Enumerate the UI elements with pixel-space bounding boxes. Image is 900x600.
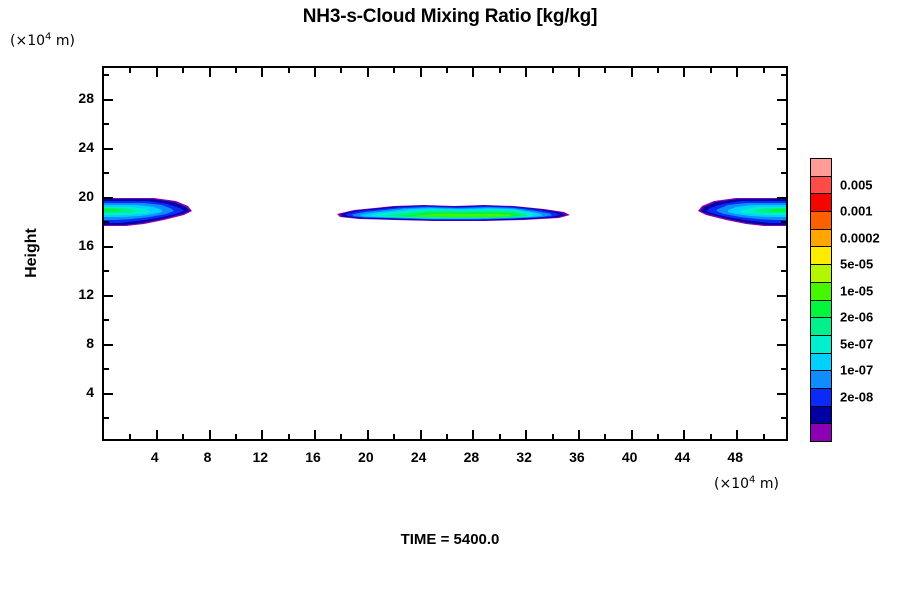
xaxis-tick — [393, 434, 395, 439]
xaxis-tick — [129, 68, 131, 73]
yaxis-tick — [777, 393, 786, 395]
colorbar-band — [810, 176, 832, 195]
yaxis-title: Height — [23, 228, 41, 278]
xaxis-tick — [683, 68, 685, 77]
xaxis-tick-label: 24 — [411, 449, 427, 465]
xaxis-tick — [499, 434, 501, 439]
colorbar-band — [810, 388, 832, 407]
xaxis-tick — [631, 430, 633, 439]
xaxis-tick — [288, 68, 290, 73]
xaxis-tick — [156, 430, 158, 439]
xaxis-tick — [367, 68, 369, 77]
yaxis-tick — [781, 172, 786, 174]
xaxis-tick — [288, 434, 290, 439]
yaxis-tick — [781, 123, 786, 125]
xaxis-tick — [578, 68, 580, 77]
colorbar-band — [810, 211, 832, 230]
colorbar-label: 5e-05 — [840, 257, 873, 272]
yaxis-tick — [104, 417, 109, 419]
xaxis-tick — [235, 68, 237, 73]
xaxis-tick — [182, 68, 184, 73]
colorbar — [810, 158, 832, 441]
colorbar-band — [810, 423, 832, 442]
xaxis-tick — [420, 430, 422, 439]
yaxis-tick — [104, 172, 109, 174]
yaxis-tick — [104, 74, 109, 76]
yaxis-tick — [104, 319, 109, 321]
xaxis-tick — [235, 434, 237, 439]
yaxis-units-label: (×104 m) — [10, 33, 75, 49]
xaxis-tick — [552, 434, 554, 439]
colorbar-band — [810, 370, 832, 389]
xaxis-tick-label: 8 — [204, 449, 212, 465]
colorbar-band — [810, 353, 832, 372]
yaxis-tick-label: 20 — [78, 188, 94, 204]
xaxis-tick — [367, 430, 369, 439]
yaxis-tick — [777, 246, 786, 248]
right-cloud-plume — [698, 198, 786, 226]
yaxis-tick — [777, 99, 786, 101]
colorbar-band — [810, 300, 832, 319]
yaxis-tick — [777, 344, 786, 346]
xaxis-tick — [604, 68, 606, 73]
xaxis-tick — [209, 430, 211, 439]
colorbar-band — [810, 246, 832, 265]
colorbar-band — [810, 317, 832, 336]
yaxis-tick — [777, 295, 786, 297]
colorbar-label: 0.005 — [840, 177, 873, 192]
yaxis-tick — [777, 148, 786, 150]
xaxis-tick — [578, 430, 580, 439]
yaxis-tick-label: 24 — [78, 139, 94, 155]
yaxis-tick — [104, 197, 113, 199]
xaxis-tick — [631, 68, 633, 77]
center-cloud-layer — [337, 205, 570, 221]
xaxis-tick-label: 16 — [305, 449, 321, 465]
plot-area — [102, 66, 788, 441]
colorbar-band — [810, 335, 832, 354]
xaxis-tick — [340, 68, 342, 73]
yaxis-tick — [781, 74, 786, 76]
yaxis-tick — [781, 270, 786, 272]
yaxis-tick-label: 8 — [86, 335, 94, 351]
xaxis-tick — [683, 430, 685, 439]
yaxis-units-suffix: m) — [51, 33, 75, 49]
yaxis-tick — [104, 270, 109, 272]
yaxis-tick-label: 16 — [78, 237, 94, 253]
yaxis-tick — [104, 246, 113, 248]
yaxis-tick — [104, 123, 109, 125]
colorbar-label: 0.001 — [840, 204, 873, 219]
xaxis-tick-label: 20 — [358, 449, 374, 465]
xaxis-tick — [525, 68, 527, 77]
xaxis-tick — [314, 68, 316, 77]
xaxis-tick-label: 12 — [253, 449, 269, 465]
xaxis-tick — [129, 434, 131, 439]
xaxis-tick — [736, 68, 738, 77]
xaxis-tick — [261, 430, 263, 439]
xaxis-tick — [261, 68, 263, 77]
xaxis-tick — [710, 434, 712, 439]
contour-plot-canvas — [104, 68, 786, 439]
xaxis-tick — [552, 68, 554, 73]
xaxis-units-label: (×104 m) — [714, 476, 779, 492]
xaxis-tick — [657, 68, 659, 73]
colorbar-band — [810, 158, 832, 177]
xaxis-tick — [393, 68, 395, 73]
colorbar-band — [810, 282, 832, 301]
xaxis-tick — [314, 430, 316, 439]
yaxis-tick — [104, 295, 113, 297]
xaxis-tick — [763, 68, 765, 73]
yaxis-tick-label: 4 — [86, 384, 94, 400]
yaxis-tick — [104, 99, 113, 101]
colorbar-label: 1e-05 — [840, 283, 873, 298]
xaxis-tick — [657, 434, 659, 439]
yaxis-tick — [781, 417, 786, 419]
xaxis-tick-label: 48 — [727, 449, 743, 465]
yaxis-tick — [781, 368, 786, 370]
left-cloud-plume — [104, 198, 192, 226]
xaxis-tick — [156, 68, 158, 77]
xaxis-tick — [446, 68, 448, 73]
colorbar-band — [810, 264, 832, 283]
xaxis-units-suffix: m) — [755, 476, 779, 492]
colorbar-label: 2e-06 — [840, 310, 873, 325]
yaxis-tick — [104, 368, 109, 370]
yaxis-tick — [777, 197, 786, 199]
xaxis-tick — [472, 68, 474, 77]
yaxis-tick — [781, 221, 786, 223]
page-title: NH3-s-Cloud Mixing Ratio [kg/kg] — [0, 6, 900, 28]
colorbar-band — [810, 406, 832, 425]
yaxis-tick-label: 12 — [78, 286, 94, 302]
xaxis-tick — [736, 430, 738, 439]
time-label: TIME = 5400.0 — [0, 531, 900, 548]
xaxis-tick-label: 44 — [675, 449, 691, 465]
xaxis-tick-label: 4 — [151, 449, 159, 465]
yaxis-tick — [104, 344, 113, 346]
xaxis-tick — [472, 430, 474, 439]
yaxis-tick — [104, 148, 113, 150]
xaxis-tick — [420, 68, 422, 77]
xaxis-tick — [182, 434, 184, 439]
yaxis-tick — [104, 393, 113, 395]
xaxis-tick — [446, 434, 448, 439]
xaxis-tick — [499, 68, 501, 73]
colorbar-band — [810, 193, 832, 212]
xaxis-tick-label: 40 — [622, 449, 638, 465]
yaxis-tick-label: 28 — [78, 90, 94, 106]
colorbar-label: 0.0002 — [840, 230, 880, 245]
xaxis-tick — [525, 430, 527, 439]
xaxis-tick — [710, 68, 712, 73]
xaxis-tick — [604, 434, 606, 439]
xaxis-units-prefix: (×10 — [714, 476, 749, 492]
xaxis-tick — [763, 434, 765, 439]
colorbar-label: 5e-07 — [840, 336, 873, 351]
yaxis-tick — [781, 319, 786, 321]
colorbar-band — [810, 229, 832, 248]
xaxis-tick-label: 36 — [569, 449, 585, 465]
colorbar-label: 1e-07 — [840, 363, 873, 378]
xaxis-tick-label: 32 — [516, 449, 532, 465]
xaxis-tick — [209, 68, 211, 77]
yaxis-tick — [104, 221, 109, 223]
colorbar-label: 2e-08 — [840, 389, 873, 404]
xaxis-tick-label: 28 — [464, 449, 480, 465]
yaxis-units-prefix: (×10 — [10, 33, 45, 49]
xaxis-tick — [340, 434, 342, 439]
